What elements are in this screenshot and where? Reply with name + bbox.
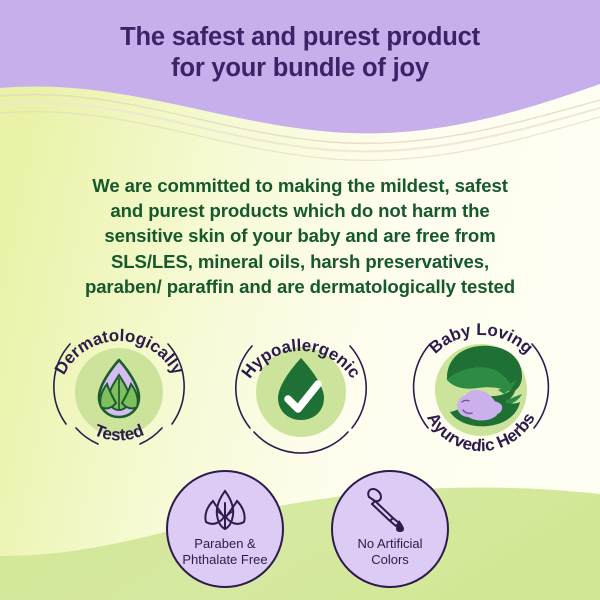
badge-label-line-1: No Artificial <box>357 536 422 552</box>
leaf-cluster-icon <box>195 489 255 531</box>
badge-label-line-2: Phthalate Free <box>182 552 267 568</box>
badge-label-line-2: Colors <box>357 552 422 568</box>
leaf-cluster-icon-wrap <box>195 489 255 531</box>
dropper-icon-wrap <box>363 489 417 531</box>
badge-label-line-1: Paraben & <box>182 536 267 552</box>
badge-baby-loving-ayurvedic-herbs: Baby Loving Ayurvedic Herbs <box>406 318 556 458</box>
intro-line-2: and purest products which do not harm th… <box>0 198 600 223</box>
badge-hypoallergenic: Hypoallergenic <box>228 320 374 456</box>
page-title-line-2: for your bundle of joy <box>0 53 600 84</box>
intro-line-4: SLS/LES, mineral oils, harsh preservativ… <box>0 249 600 274</box>
intro-line-1: We are committed to making the mildest, … <box>0 173 600 198</box>
page-title-line-1: The safest and purest product <box>120 23 480 51</box>
dropper-icon <box>363 487 417 533</box>
baby-in-leaf-icon <box>447 346 522 427</box>
page-title: The safest and purest product for your b… <box>0 22 600 84</box>
badge-label: Paraben & Phthalate Free <box>182 536 267 567</box>
product-claims-poster: The safest and purest product for your b… <box>0 0 600 600</box>
intro-line-3: sensitive skin of your baby and are free… <box>0 223 600 248</box>
badge-no-artificial-colors: No Artificial Colors <box>331 470 449 588</box>
intro-paragraph: We are committed to making the mildest, … <box>0 173 600 299</box>
badge-label: No Artificial Colors <box>357 536 422 567</box>
badge-dermatologically-tested: Dermatologically Tested <box>46 320 192 456</box>
badge-paraben-phthalate-free: Paraben & Phthalate Free <box>166 470 284 588</box>
background-artwork <box>0 0 600 600</box>
intro-line-5: paraben/ paraffin and are dermatological… <box>0 274 600 299</box>
